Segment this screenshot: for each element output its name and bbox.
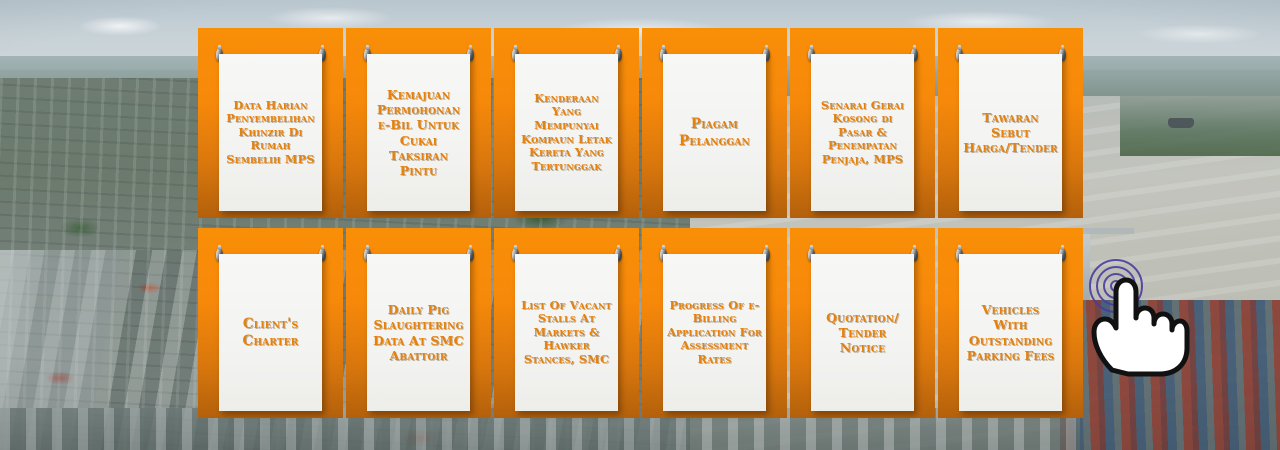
tile-paper[interactable]: Vehicles With Outstanding Parking Fees: [959, 254, 1062, 411]
tile-label: Piagam Pelanggan: [667, 116, 762, 149]
tile-label: List Of Vacant Stalls At Markets & Hawke…: [519, 299, 614, 367]
dataset-tile-piagam-pelanggan[interactable]: Piagam Pelanggan: [642, 28, 787, 218]
tile-label: Daily Pig Slaughtering Data At SMC Abatt…: [371, 302, 466, 363]
tile-label: Client's Charter: [223, 316, 318, 349]
tile-paper[interactable]: Piagam Pelanggan: [663, 54, 766, 211]
dataset-tile-quotation-tender-notice[interactable]: Quotation/ Tender Notice: [790, 228, 935, 418]
tile-label: Kemajuan Permohonan e-Bil Untuk Cukai Ta…: [371, 87, 466, 179]
dataset-tile-clients-charter[interactable]: Client's Charter: [198, 228, 343, 418]
tile-paper[interactable]: Kemajuan Permohonan e-Bil Untuk Cukai Ta…: [367, 54, 470, 211]
dataset-tile-daily-pig-slaughtering-data[interactable]: Daily Pig Slaughtering Data At SMC Abatt…: [346, 228, 491, 418]
dataset-tile-senarai-gerai-kosong[interactable]: Senarai Gerai Kosong di Pasar & Penempat…: [790, 28, 935, 218]
tile-paper[interactable]: Progress Of e-Billing Application For As…: [663, 254, 766, 411]
tile-paper[interactable]: Kenderaan Yang Mempunyai Kompaun Letak K…: [515, 54, 618, 211]
tile-label: Senarai Gerai Kosong di Pasar & Penempat…: [815, 99, 910, 167]
dataset-tile-tawaran-sebut-harga-tender[interactable]: Tawaran Sebut Harga/Tender: [938, 28, 1083, 218]
tile-label: Kenderaan Yang Mempunyai Kompaun Letak K…: [519, 92, 614, 173]
tile-paper[interactable]: Tawaran Sebut Harga/Tender: [959, 54, 1062, 211]
dataset-tile-grid: Data Harian Penyembelihan Khinzir Di Rum…: [198, 28, 1082, 418]
dataset-tile-kenderaan-kompaun-letak-kereta[interactable]: Kenderaan Yang Mempunyai Kompaun Letak K…: [494, 28, 639, 218]
tile-label: Data Harian Penyembelihan Khinzir Di Rum…: [223, 99, 318, 167]
tile-paper[interactable]: Senarai Gerai Kosong di Pasar & Penempat…: [811, 54, 914, 211]
dataset-tile-kemajuan-permohonan-e-bil[interactable]: Kemajuan Permohonan e-Bil Untuk Cukai Ta…: [346, 28, 491, 218]
tile-label: Quotation/ Tender Notice: [815, 310, 910, 356]
dataset-tile-vehicles-with-outstanding-parking[interactable]: Vehicles With Outstanding Parking Fees: [938, 228, 1083, 418]
dataset-tile-progress-of-e-billing-application[interactable]: Progress Of e-Billing Application For As…: [642, 228, 787, 418]
dataset-tile-list-of-vacant-stalls[interactable]: List Of Vacant Stalls At Markets & Hawke…: [494, 228, 639, 418]
tile-label: Vehicles With Outstanding Parking Fees: [963, 302, 1058, 363]
tile-label: Progress Of e-Billing Application For As…: [667, 299, 762, 367]
dataset-tile-data-harian-penyembelihan-khinzir[interactable]: Data Harian Penyembelihan Khinzir Di Rum…: [198, 28, 343, 218]
tile-paper[interactable]: List Of Vacant Stalls At Markets & Hawke…: [515, 254, 618, 411]
tile-paper[interactable]: Data Harian Penyembelihan Khinzir Di Rum…: [219, 54, 322, 211]
tile-label: Tawaran Sebut Harga/Tender: [963, 110, 1058, 156]
tile-paper[interactable]: Client's Charter: [219, 254, 322, 411]
tile-paper[interactable]: Quotation/ Tender Notice: [811, 254, 914, 411]
page-root: Data Harian Penyembelihan Khinzir Di Rum…: [0, 0, 1280, 450]
tile-paper[interactable]: Daily Pig Slaughtering Data At SMC Abatt…: [367, 254, 470, 411]
